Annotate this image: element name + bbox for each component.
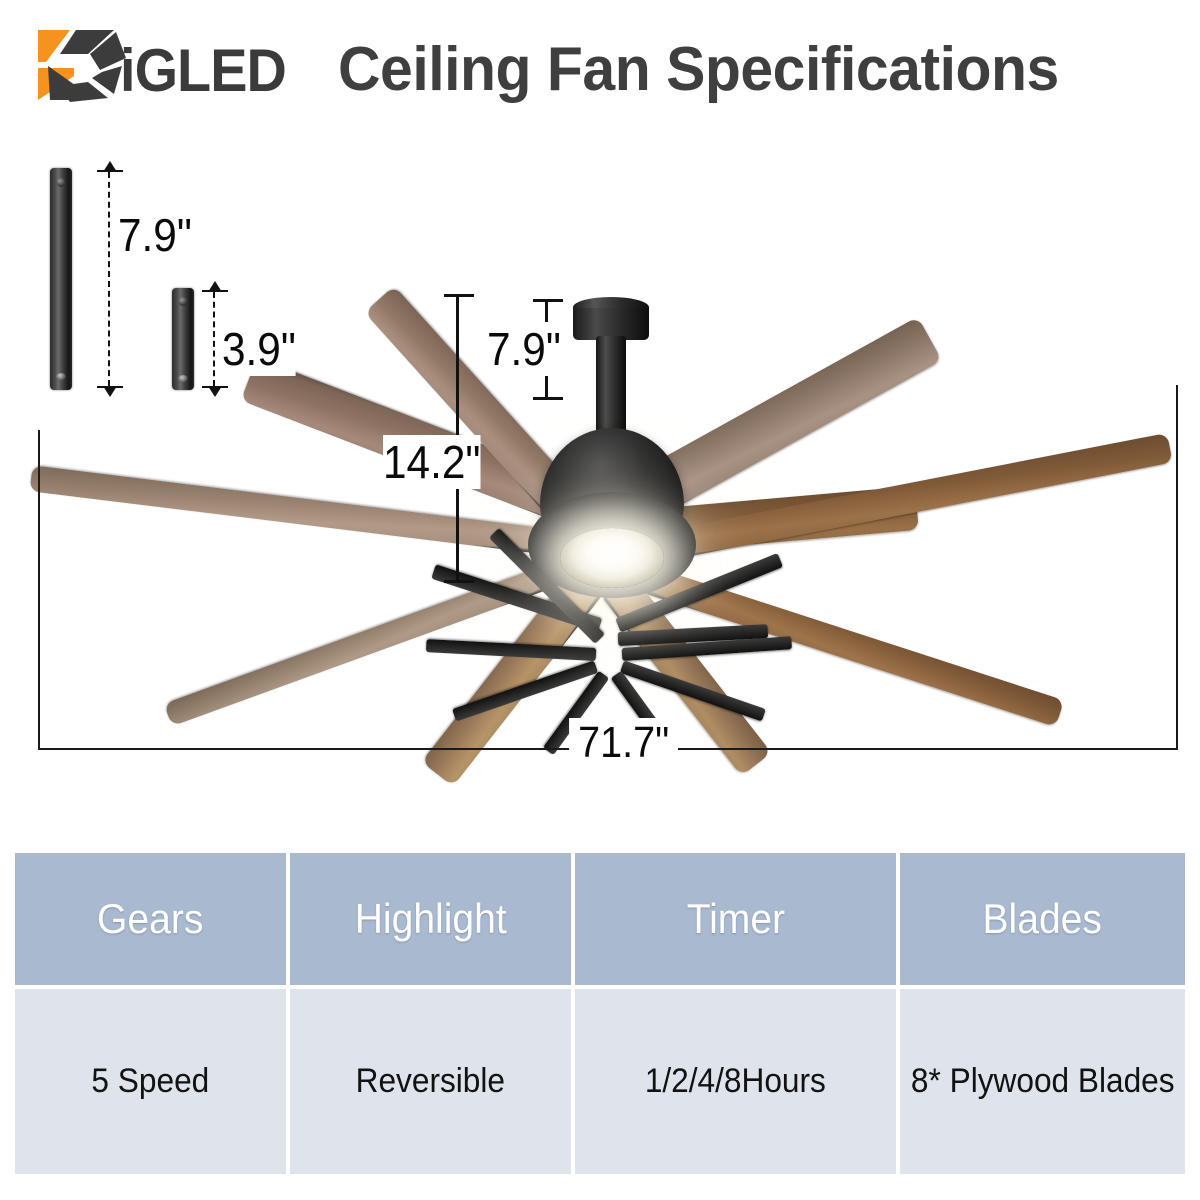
digled-aperture-logo-icon [30,28,130,106]
downrod-screw-icon [57,178,66,187]
dimension-arrow-up-icon [103,161,117,172]
downrod-hole-icon [178,375,188,382]
dimension-arrow-down-icon [103,386,117,397]
dimension-label-canopy-height: 7.9" [487,322,561,376]
product-spec-page: iGLED Ceiling Fan Specifications [0,0,1200,1200]
dimension-label-fan-width: 71.7" [569,718,678,768]
dimension-arrow-up-icon [208,281,222,292]
fan-diagram: 7.9" 3.9" 7.9" 14.2" 71.7" [0,140,1200,840]
dimension-arrow-down-icon [208,386,222,397]
table-cell-timer-value: 1/2/4/8Hours [575,989,900,1174]
table-row: 5 Speed Reversible 1/2/4/8Hours 8* Plywo… [15,989,1185,1174]
dimension-label-fan-height: 14.2" [383,435,480,489]
table-body: 5 Speed Reversible 1/2/4/8Hours 8* Plywo… [15,989,1185,1174]
downrod-short [172,288,194,390]
table-header: Gears Highlight Timer Blades [15,853,1185,989]
table-header-gears: Gears [15,853,290,985]
page-header: iGLED Ceiling Fan Specifications [0,0,1200,140]
fan-downrod [596,336,626,438]
table-header-blades: Blades [900,853,1185,985]
table-header-timer: Timer [575,853,900,985]
dimension-label-downrod-short: 3.9" [222,322,296,376]
width-extension-line-left [38,430,40,750]
downrod-long [50,168,72,390]
fan-led-light [560,528,664,588]
brand-name: iGLED [120,36,286,105]
table-cell-gears-value: 5 Speed [15,989,290,1174]
dimension-label-downrod-long: 7.9" [118,208,192,262]
table-cell-highlight-value: Reversible [290,989,575,1174]
table-header-row: Gears Highlight Timer Blades [15,853,1185,989]
page-title: Ceiling Fan Specifications [338,34,1059,105]
table-cell-blades-value: 8* Plywood Blades [900,989,1185,1174]
dimension-line-downrod-long [108,172,110,386]
dimension-line-downrod-short [213,292,215,386]
specifications-table: Gears Highlight Timer Blades 5 Speed Rev… [15,853,1185,1174]
width-extension-line-right [1176,385,1178,750]
downrod-hole-icon [56,373,66,380]
downrod-screw-icon [179,297,188,306]
table-header-highlight: Highlight [290,853,575,985]
